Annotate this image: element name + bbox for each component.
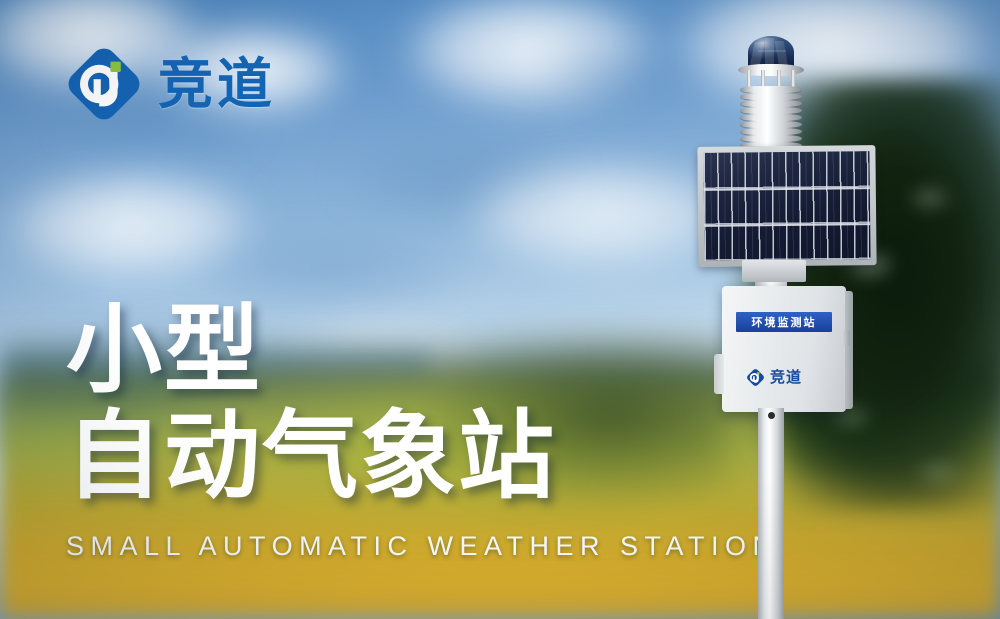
headline-subtitle: SMALL AUTOMATIC WEATHER STATION (66, 531, 686, 562)
control-box-label: 环境监测站 (736, 312, 832, 332)
control-box: 环境监测站 竞道 (722, 286, 846, 412)
headline-line-1: 小型 (66, 300, 686, 402)
control-box-hinge (714, 354, 724, 394)
radiation-shield (740, 86, 802, 146)
control-box-brand: 竞道 (746, 368, 802, 387)
brand-name: 竞道 (158, 57, 276, 112)
tree-highlight (906, 455, 970, 489)
mounting-pole-lower (758, 408, 784, 619)
headline-line-2: 自动气象站 (66, 404, 686, 510)
control-box-latch (843, 330, 850, 346)
control-box-label-text: 环境监测站 (752, 314, 817, 330)
solar-panel-cells (703, 151, 870, 261)
solar-panel-mount (742, 260, 806, 282)
jingdao-diamond-logo-icon (746, 368, 765, 387)
headline-block: 小型 自动气象站 SMALL AUTOMATIC WEATHER STATION (66, 300, 686, 562)
promo-banner: 竞道 小型 自动气象站 SMALL AUTOMATIC WEATHER STAT… (0, 0, 1000, 619)
solar-panel (697, 145, 876, 267)
weather-station-product: 环境监测站 竞道 (690, 28, 890, 619)
tree-highlight (900, 180, 960, 216)
control-box-side (845, 291, 853, 409)
control-box-brand-text: 竞道 (770, 370, 802, 385)
pole-bolt (768, 412, 775, 419)
jingdao-diamond-logo-icon (64, 44, 144, 124)
brand-logo[interactable]: 竞道 (64, 44, 276, 124)
